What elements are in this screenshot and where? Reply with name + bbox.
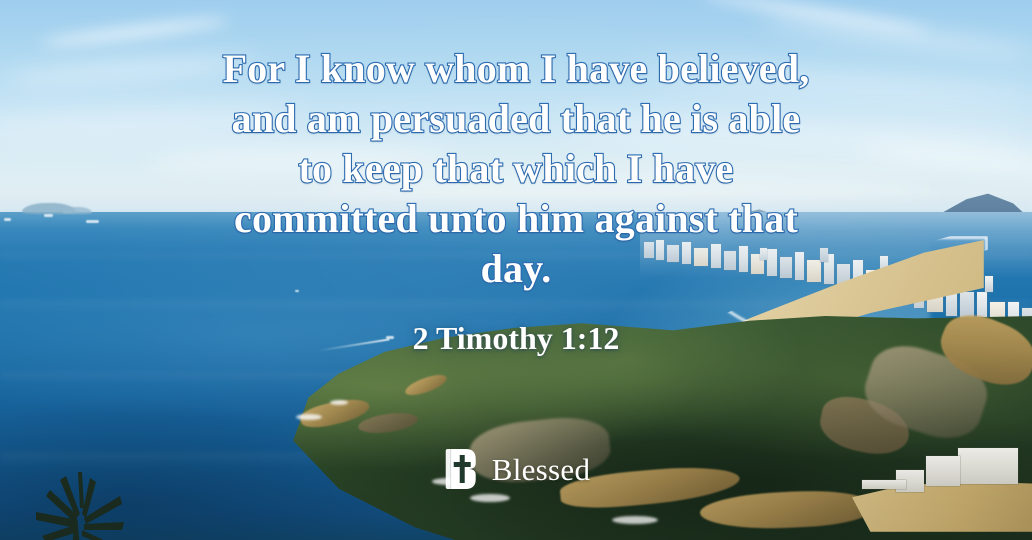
verse-text: For I know whom I have believed, and am … <box>166 44 866 294</box>
brand-wordmark: Blessed <box>492 454 591 485</box>
text-overlay: For I know whom I have believed, and am … <box>0 0 1032 540</box>
verse-line: and am persuaded that he is able <box>166 94 866 144</box>
bible-with-cross-icon <box>442 448 478 490</box>
verse-line: to keep that which I have <box>166 144 866 194</box>
scripture-image-card: For I know whom I have believed, and am … <box>0 0 1032 540</box>
verse-reference: 2 Timothy 1:12 <box>413 320 620 356</box>
verse-line: committed unto him against that <box>166 194 866 244</box>
verse-line: day. <box>166 244 866 294</box>
verse-line: For I know whom I have believed, <box>166 44 866 94</box>
brand-logo: Blessed <box>442 448 591 490</box>
